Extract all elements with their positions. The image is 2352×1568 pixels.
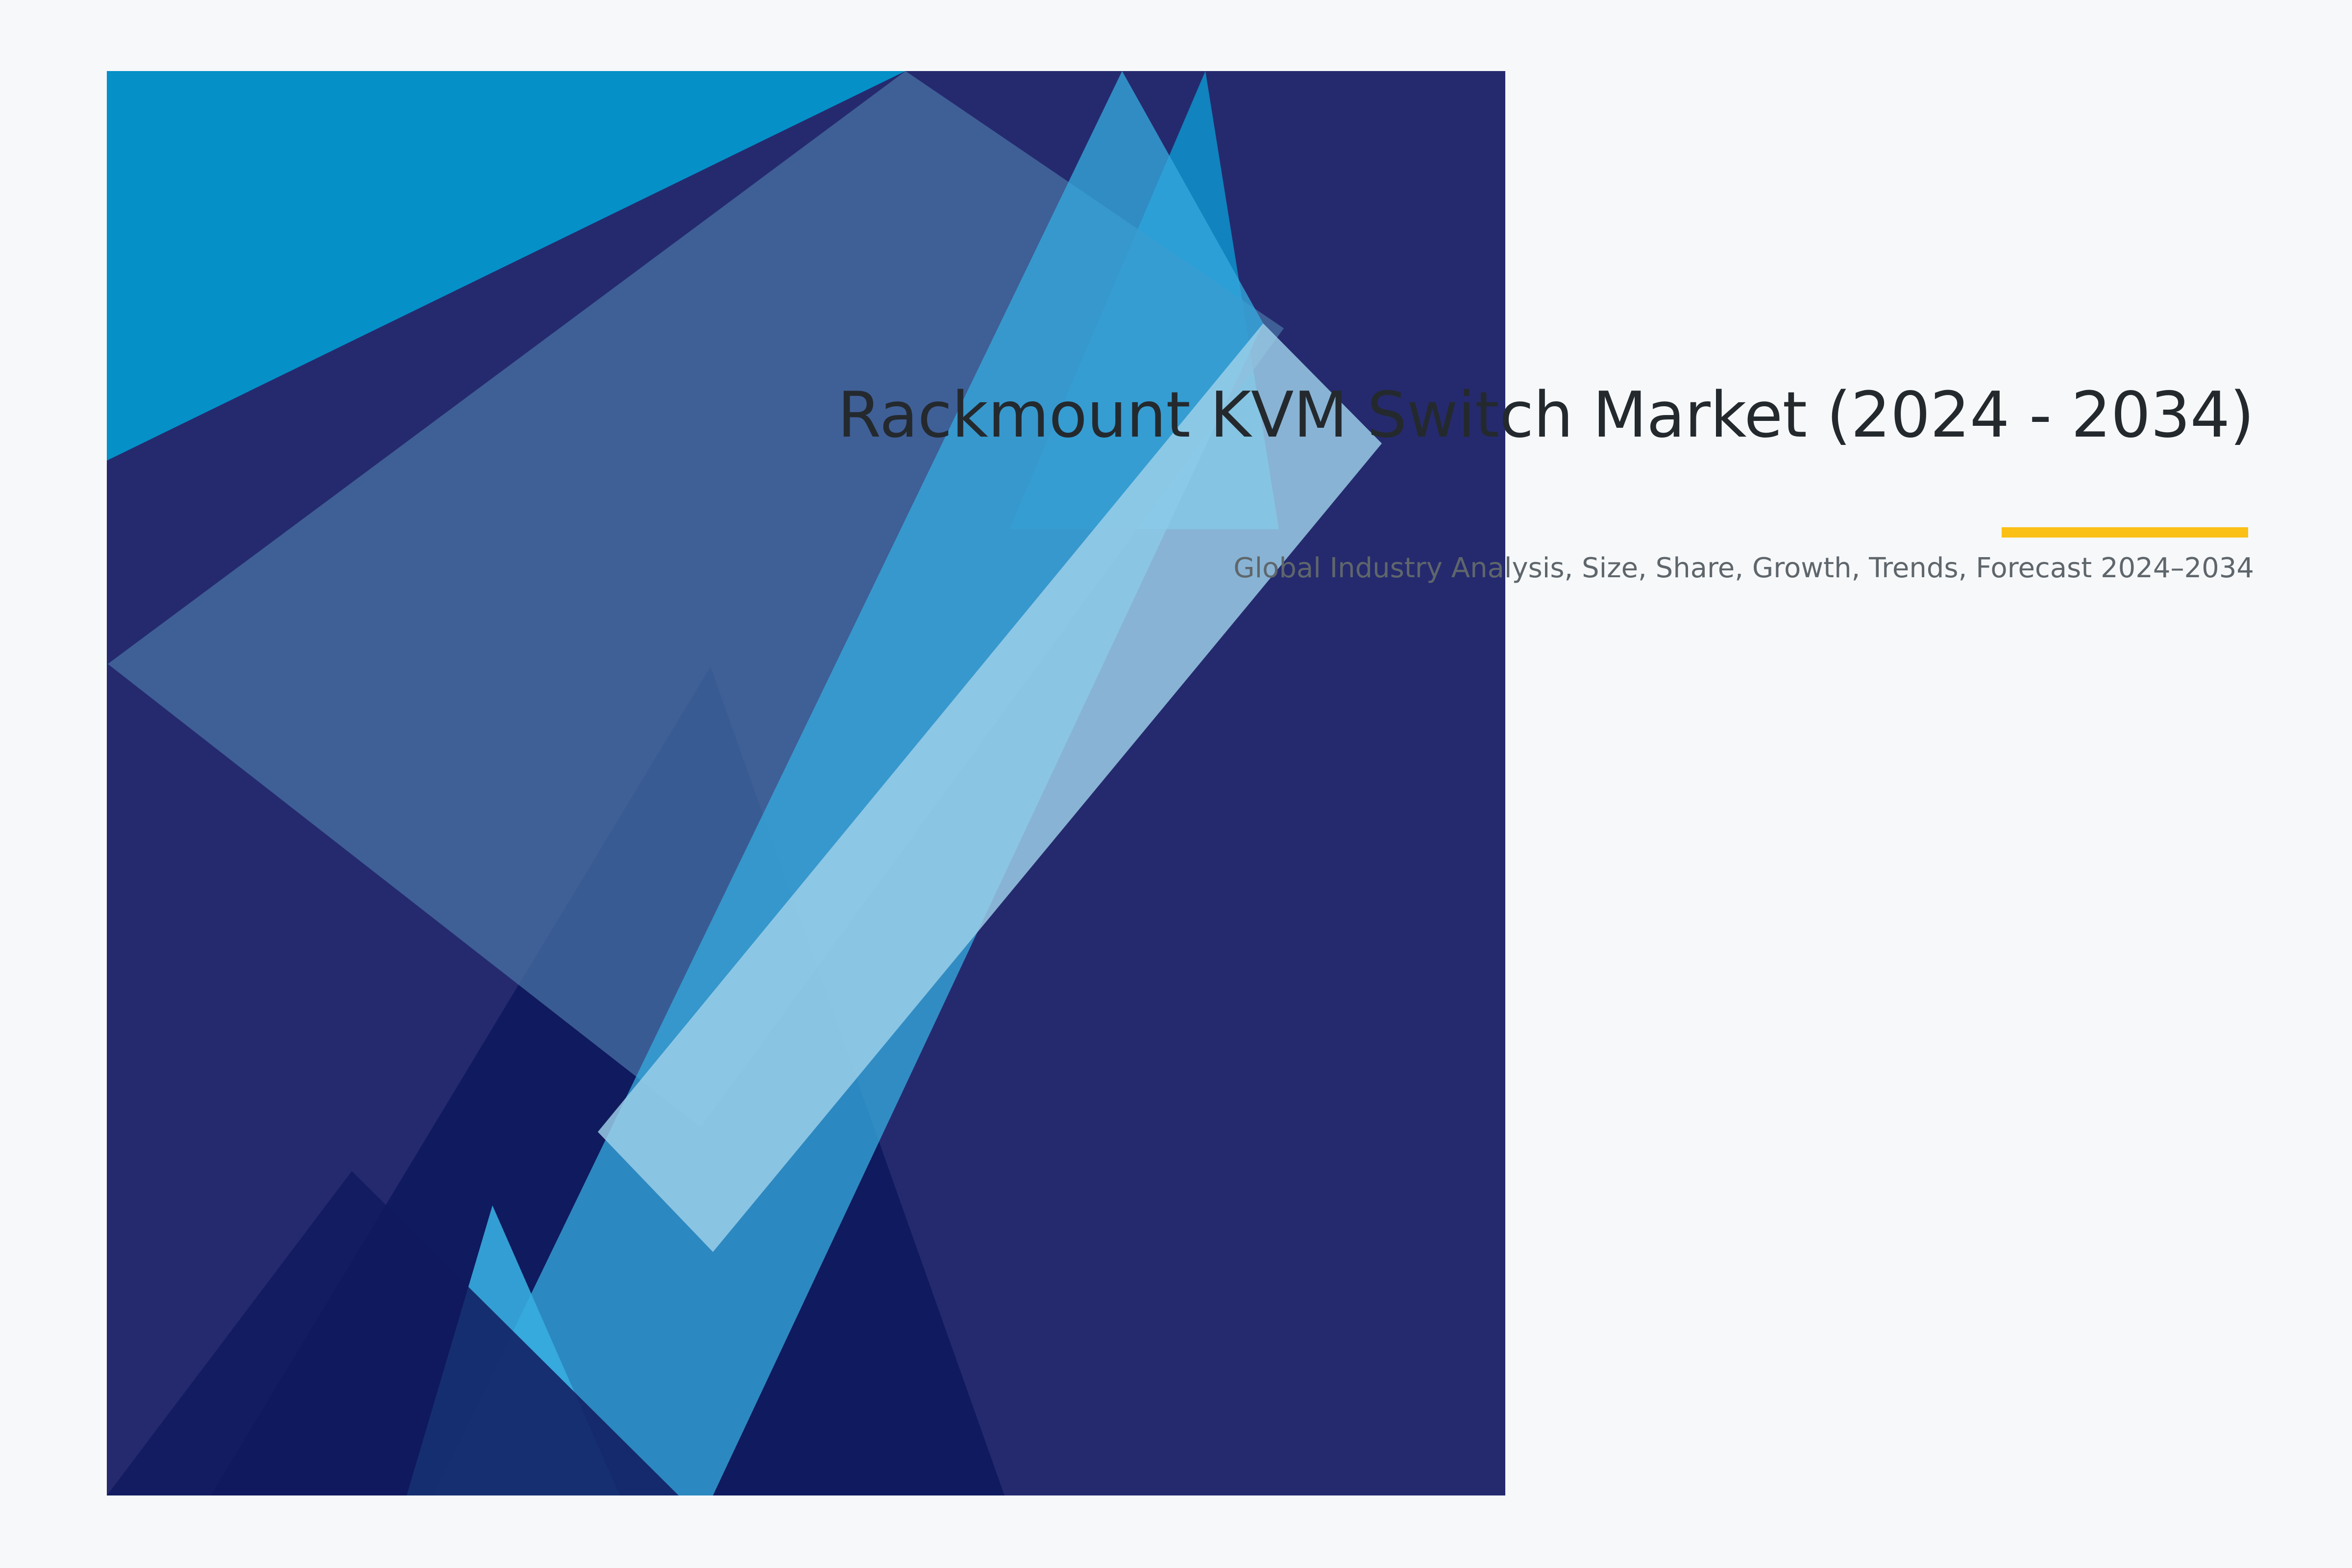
page-title: Rackmount KVM Switch Market (2024 - 2034… — [764, 377, 2254, 454]
report-cover-slide: Rackmount KVM Switch Market (2024 - 2034… — [0, 0, 2352, 1568]
cover-text-block: Rackmount KVM Switch Market (2024 - 2034… — [764, 377, 2254, 587]
page-subtitle: Global Industry Analysis, Size, Share, G… — [764, 454, 2254, 587]
abstract-geometric-cover-graphic — [0, 0, 2352, 1568]
title-wrap: Rackmount KVM Switch Market (2024 - 2034… — [764, 377, 2254, 454]
